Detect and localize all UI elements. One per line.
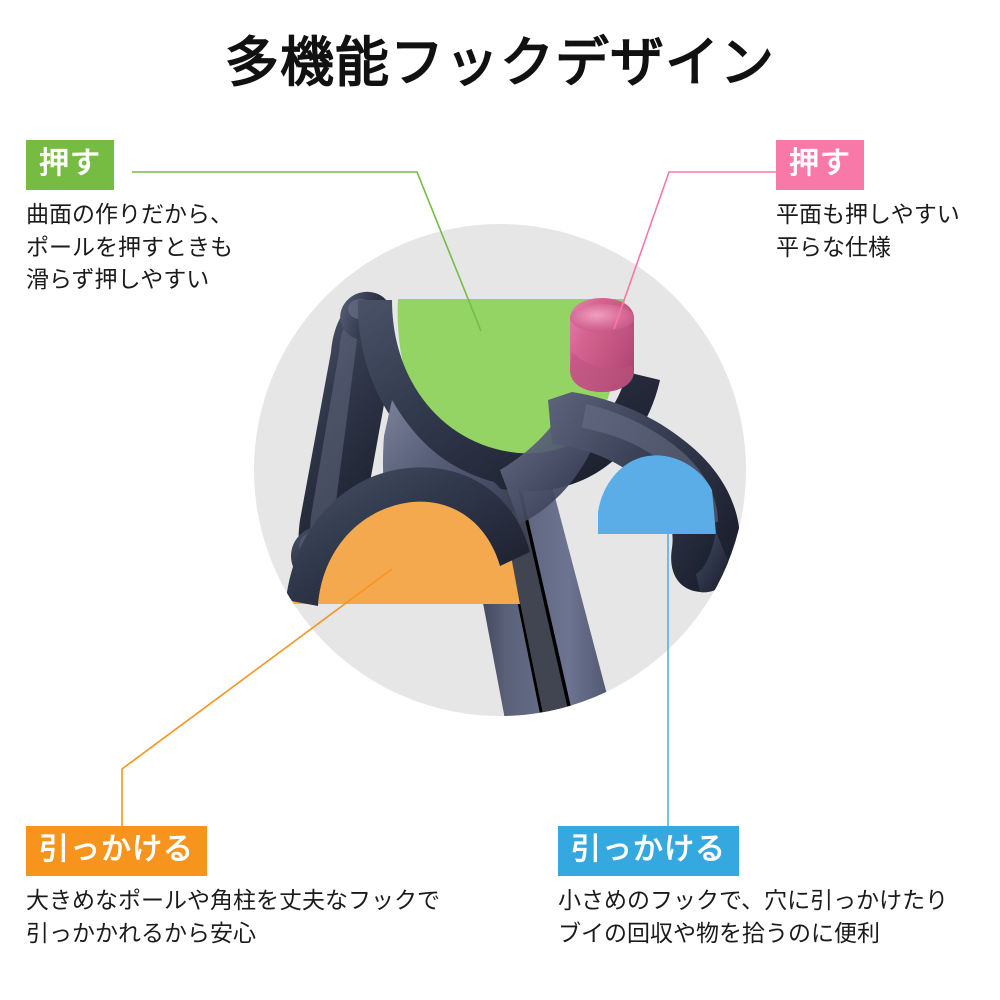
callout-description-push-flat: 平面も押しやすい 平らな仕様: [776, 198, 960, 263]
right-hook-tip: [696, 532, 732, 592]
callout-hook-small: 引っかける 小さめのフックで、穴に引っかけたり ブイの回収や物を拾うのに便利: [558, 826, 948, 949]
callout-description-hook-small: 小さめのフックで、穴に引っかけたり ブイの回収や物を拾うのに便利: [558, 884, 948, 949]
infographic-root: 多機能フックデザイン: [0, 0, 1000, 1000]
callout-description-hook-large: 大きめなポールや角柱を丈夫なフックで 引っかかれるから安心: [26, 884, 440, 949]
leader-line-pink: [614, 172, 778, 329]
pink-cap-shade: [570, 352, 634, 392]
left-arm-top-tip: [334, 285, 398, 347]
backdrop-circle: [254, 224, 746, 716]
callout-push-curved: 押す 曲面の作りだから、 ポールを押すときも 滑らず押しやすい: [26, 140, 233, 296]
left-arm-highlight: [310, 312, 356, 552]
page-title: 多機能フックデザイン: [0, 34, 1000, 93]
lower-arch: [286, 467, 530, 606]
orange-zone: [286, 477, 520, 604]
blue-zone: [598, 455, 716, 534]
callout-description-push-curved: 曲面の作りだから、 ポールを押すときも 滑らず押しやすい: [26, 198, 233, 296]
pink-cap-group: [570, 298, 634, 392]
callout-badge-push-curved: 押す: [26, 140, 114, 190]
leader-line-orange: [122, 569, 392, 826]
callout-hook-large: 引っかける 大きめなポールや角柱を丈夫なフックで 引っかかれるから安心: [26, 826, 440, 949]
left-arm-top-highlight: [348, 299, 372, 319]
pink-cap: [570, 298, 634, 392]
center-web: [383, 400, 520, 580]
right-hook-highlight: [582, 404, 718, 524]
pink-cap-top: [570, 304, 634, 332]
callout-badge-hook-small: 引っかける: [558, 826, 739, 876]
upper-arch: [358, 300, 660, 491]
left-arm-tip: [291, 526, 353, 586]
center-web-2: [500, 404, 600, 524]
callout-badge-push-flat: 押す: [776, 140, 864, 190]
right-hook-arm: [548, 392, 740, 592]
green-zone: [398, 299, 625, 461]
left-arm: [299, 297, 393, 580]
callout-badge-hook-large: 引っかける: [26, 826, 207, 876]
left-arm-tip-highlight: [299, 532, 329, 560]
callout-push-flat: 押す 平面も押しやすい 平らな仕様: [776, 140, 960, 263]
